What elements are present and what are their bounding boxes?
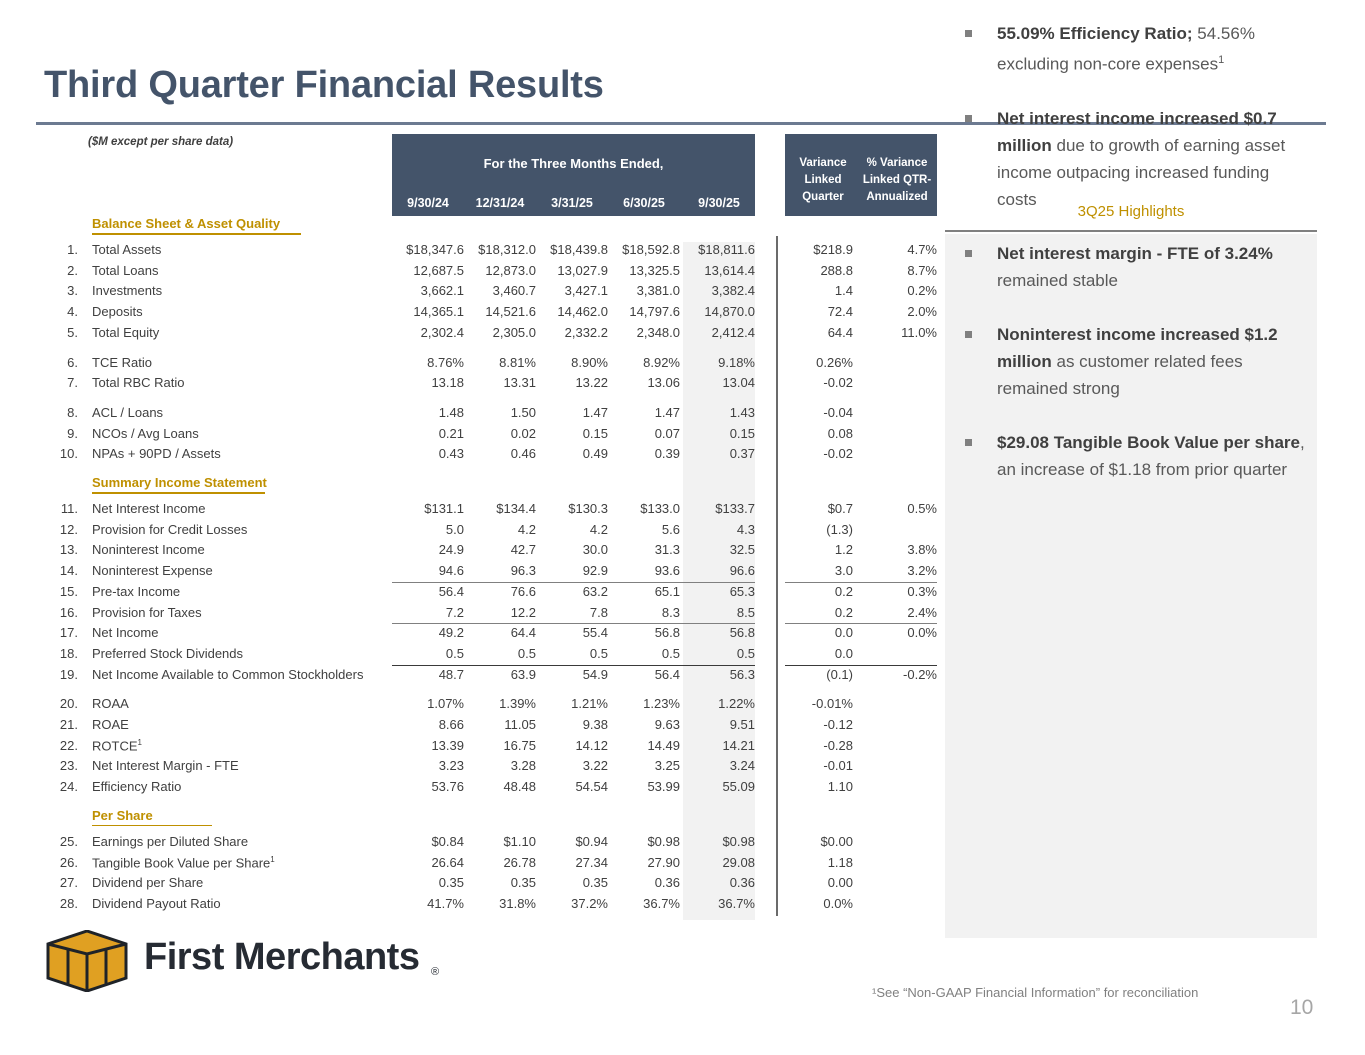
highlight-item: $29.08 Tangible Book Value per share, an… bbox=[955, 429, 1307, 483]
row-number: 22. bbox=[36, 738, 78, 753]
cell-value: 5.6 bbox=[608, 522, 680, 537]
bullet-square-icon bbox=[965, 439, 972, 446]
cell-value: 3.23 bbox=[392, 758, 464, 773]
table-row: 12.Provision for Credit Losses5.04.24.25… bbox=[36, 522, 941, 543]
cell-value: 53.76 bbox=[392, 779, 464, 794]
table-row: 10.NPAs + 90PD / Assets0.430.460.490.390… bbox=[36, 446, 941, 467]
cell-value: 2,302.4 bbox=[392, 325, 464, 340]
cell-value: 0.36 bbox=[608, 875, 680, 890]
cell-value: 9.51 bbox=[683, 717, 755, 732]
cell-variance: -0.02 bbox=[785, 375, 853, 390]
footnote-marker: 1 bbox=[1218, 54, 1224, 66]
cell-value: 1.23% bbox=[608, 696, 680, 711]
cell-variance: 0.00 bbox=[785, 875, 853, 890]
row-label: Pre-tax Income bbox=[92, 584, 180, 599]
table-row: 6.TCE Ratio8.76%8.81%8.90%8.92%9.18%0.26… bbox=[36, 355, 941, 376]
cell-value: 13.18 bbox=[392, 375, 464, 390]
cell-value: 0.07 bbox=[608, 426, 680, 441]
cell-value: 13,027.9 bbox=[536, 263, 608, 278]
section-header: Summary Income Statement bbox=[92, 475, 267, 492]
row-number: 19. bbox=[36, 667, 78, 682]
cell-value: 8.81% bbox=[464, 355, 536, 370]
cell-value: 8.90% bbox=[536, 355, 608, 370]
cell-variance: 3.0 bbox=[785, 563, 853, 578]
cell-value: 0.15 bbox=[536, 426, 608, 441]
cell-value: 14.21 bbox=[683, 738, 755, 753]
table-row: 25.Earnings per Diluted Share$0.84$1.10$… bbox=[36, 834, 941, 855]
row-number: 18. bbox=[36, 646, 78, 661]
variance-linked-quarter-header: Variance Linked Quarter bbox=[789, 155, 857, 206]
company-logo: First Merchants ® bbox=[46, 930, 416, 992]
cell-value: 24.9 bbox=[392, 542, 464, 557]
row-number: 17. bbox=[36, 625, 78, 640]
cell-value: 3.24 bbox=[683, 758, 755, 773]
cell-value: 14,870.0 bbox=[683, 304, 755, 319]
row-label: Noninterest Income bbox=[92, 542, 205, 557]
row-label: Dividend Payout Ratio bbox=[92, 896, 221, 911]
row-number: 23. bbox=[36, 758, 78, 773]
cell-value: 54.54 bbox=[536, 779, 608, 794]
cell-value: 1.47 bbox=[608, 405, 680, 420]
footnote: ¹See “Non-GAAP Financial Information” fo… bbox=[872, 985, 1198, 1000]
row-number: 21. bbox=[36, 717, 78, 732]
cell-value: 3,382.4 bbox=[683, 283, 755, 298]
cell-value: 1.48 bbox=[392, 405, 464, 420]
row-number: 15. bbox=[36, 584, 78, 599]
cell-variance: $0.00 bbox=[785, 834, 853, 849]
cell-value: 92.9 bbox=[536, 563, 608, 578]
cell-value: 65.1 bbox=[608, 584, 680, 599]
cell-value: 31.3 bbox=[608, 542, 680, 557]
row-number: 1. bbox=[36, 242, 78, 257]
cell-value: 13.04 bbox=[683, 375, 755, 390]
registered-trademark-icon: ® bbox=[431, 966, 439, 978]
table-row: 26.Tangible Book Value per Share126.6426… bbox=[36, 855, 941, 876]
cell-variance-pct: 0.3% bbox=[861, 584, 937, 599]
cell-variance-pct: 2.0% bbox=[861, 304, 937, 319]
row-label: Total Equity bbox=[92, 325, 159, 340]
table-row: 20.ROAA1.07%1.39%1.21%1.23%1.22%-0.01% bbox=[36, 696, 941, 717]
row-number: 14. bbox=[36, 563, 78, 578]
table-row: 15.Pre-tax Income56.476.663.265.165.30.2… bbox=[36, 584, 941, 605]
cell-value: 32.5 bbox=[683, 542, 755, 557]
cell-variance-pct: 3.8% bbox=[861, 542, 937, 557]
cell-value: 14,462.0 bbox=[536, 304, 608, 319]
cell-value: 0.21 bbox=[392, 426, 464, 441]
period-header-4: 6/30/25 bbox=[608, 196, 680, 210]
table-row: 17.Net Income49.264.455.456.856.80.00.0% bbox=[36, 625, 941, 646]
row-label: Preferred Stock Dividends bbox=[92, 646, 243, 661]
cell-variance-pct: 3.2% bbox=[861, 563, 937, 578]
cell-value: $18,811.6 bbox=[683, 242, 755, 257]
cell-variance: -0.04 bbox=[785, 405, 853, 420]
cell-value: $130.3 bbox=[536, 501, 608, 516]
row-number: 9. bbox=[36, 426, 78, 441]
cell-value: 2,305.0 bbox=[464, 325, 536, 340]
cell-value: 1.43 bbox=[683, 405, 755, 420]
cell-value: 31.8% bbox=[464, 896, 536, 911]
cell-value: 3,427.1 bbox=[536, 283, 608, 298]
table-row: 28.Dividend Payout Ratio41.7%31.8%37.2%3… bbox=[36, 896, 941, 917]
table-row: 27.Dividend per Share0.350.350.350.360.3… bbox=[36, 875, 941, 896]
cell-value: 56.4 bbox=[608, 667, 680, 682]
cell-value: 1.22% bbox=[683, 696, 755, 711]
row-number: 8. bbox=[36, 405, 78, 420]
table-row: 1.Total Assets$18,347.6$18,312.0$18,439.… bbox=[36, 242, 941, 263]
cell-value: 36.7% bbox=[608, 896, 680, 911]
cell-value: 3.22 bbox=[536, 758, 608, 773]
cell-value: 13.22 bbox=[536, 375, 608, 390]
cell-value: $18,592.8 bbox=[608, 242, 680, 257]
cell-variance: 1.18 bbox=[785, 855, 853, 870]
cell-value: 3.28 bbox=[464, 758, 536, 773]
cell-variance: -0.01 bbox=[785, 758, 853, 773]
table-row: 2.Total Loans12,687.512,873.013,027.913,… bbox=[36, 263, 941, 284]
row-label: Total Assets bbox=[92, 242, 161, 257]
cell-variance: $218.9 bbox=[785, 242, 853, 257]
cell-value: 1.39% bbox=[464, 696, 536, 711]
period-column-headers: 9/30/2412/31/243/31/256/30/259/30/25 bbox=[392, 196, 755, 216]
cell-variance: 0.08 bbox=[785, 426, 853, 441]
cell-value: 16.75 bbox=[464, 738, 536, 753]
cell-value: 56.8 bbox=[608, 625, 680, 640]
row-label: TCE Ratio bbox=[92, 355, 152, 370]
cell-variance-pct: 0.0% bbox=[861, 625, 937, 640]
section-header-underline bbox=[92, 492, 265, 494]
cell-value: $133.0 bbox=[608, 501, 680, 516]
cell-value: $0.94 bbox=[536, 834, 608, 849]
row-number: 7. bbox=[36, 375, 78, 390]
cell-variance-pct: 2.4% bbox=[861, 605, 937, 620]
bullet-square-icon bbox=[965, 30, 972, 37]
highlights-list: 55.09% Efficiency Ratio; 54.56% excludin… bbox=[955, 20, 1307, 510]
cell-variance: 288.8 bbox=[785, 263, 853, 278]
cell-value: 55.09 bbox=[683, 779, 755, 794]
cell-value: 11.05 bbox=[464, 717, 536, 732]
cell-value: 0.5 bbox=[392, 646, 464, 661]
row-label: Tangible Book Value per Share1 bbox=[92, 855, 275, 870]
table-row: 11.Net Interest Income$131.1$134.4$130.3… bbox=[36, 501, 941, 522]
cell-value: 2,348.0 bbox=[608, 325, 680, 340]
cell-value: 2,332.2 bbox=[536, 325, 608, 340]
cell-value: $18,347.6 bbox=[392, 242, 464, 257]
cell-value: 0.5 bbox=[464, 646, 536, 661]
row-number: 28. bbox=[36, 896, 78, 911]
row-label: ACL / Loans bbox=[92, 405, 163, 420]
cell-value: 7.8 bbox=[536, 605, 608, 620]
cell-variance: -0.02 bbox=[785, 446, 853, 461]
cell-value: 13,325.5 bbox=[608, 263, 680, 278]
cell-variance: 64.4 bbox=[785, 325, 853, 340]
highlight-emphasis: Net interest margin - FTE of 3.24% bbox=[997, 244, 1273, 263]
row-number: 2. bbox=[36, 263, 78, 278]
cell-value: 76.6 bbox=[464, 584, 536, 599]
cell-variance: 1.4 bbox=[785, 283, 853, 298]
cell-value: 1.07% bbox=[392, 696, 464, 711]
cell-value: 0.46 bbox=[464, 446, 536, 461]
period-header-1: 9/30/24 bbox=[392, 196, 464, 210]
subtotal-rule bbox=[392, 623, 755, 624]
row-label: NCOs / Avg Loans bbox=[92, 426, 199, 441]
cell-value: 30.0 bbox=[536, 542, 608, 557]
cell-variance: 0.26% bbox=[785, 355, 853, 370]
cell-value: 27.90 bbox=[608, 855, 680, 870]
cell-value: 0.02 bbox=[464, 426, 536, 441]
cell-value: 14,521.6 bbox=[464, 304, 536, 319]
row-number: 11. bbox=[36, 501, 78, 516]
cell-variance: 0.2 bbox=[785, 584, 853, 599]
table-row: 7.Total RBC Ratio13.1813.3113.2213.0613.… bbox=[36, 375, 941, 396]
row-label: Earnings per Diluted Share bbox=[92, 834, 248, 849]
cell-variance: (1.3) bbox=[785, 522, 853, 537]
cell-value: 0.15 bbox=[683, 426, 755, 441]
period-group-header-label: For the Three Months Ended, bbox=[392, 156, 755, 171]
cell-value: 27.34 bbox=[536, 855, 608, 870]
page-number: 10 bbox=[1290, 996, 1313, 1020]
row-label: Provision for Credit Losses bbox=[92, 522, 247, 537]
row-label: Net Income Available to Common Stockhold… bbox=[92, 667, 363, 682]
table-row: 22.ROTCE113.3916.7514.1214.4914.21-0.28 bbox=[36, 738, 941, 759]
cell-value: $134.4 bbox=[464, 501, 536, 516]
variance-group-header: Variance Linked Quarter % Variance Linke… bbox=[785, 134, 937, 216]
cell-value: 49.2 bbox=[392, 625, 464, 640]
period-header-3: 3/31/25 bbox=[536, 196, 608, 210]
period-header-5: 9/30/25 bbox=[683, 196, 755, 210]
highlight-text: remained stable bbox=[997, 271, 1118, 290]
row-label: Net Income bbox=[92, 625, 158, 640]
cell-value: 65.3 bbox=[683, 584, 755, 599]
cell-variance: 72.4 bbox=[785, 304, 853, 319]
period-header-2: 12/31/24 bbox=[464, 196, 536, 210]
highlight-emphasis: $29.08 Tangible Book Value per share bbox=[997, 433, 1300, 452]
cell-variance: -0.12 bbox=[785, 717, 853, 732]
cell-value: 29.08 bbox=[683, 855, 755, 870]
cell-value: 9.63 bbox=[608, 717, 680, 732]
cell-value: 0.49 bbox=[536, 446, 608, 461]
cell-variance: $0.7 bbox=[785, 501, 853, 516]
cell-value: 8.3 bbox=[608, 605, 680, 620]
section-header: Balance Sheet & Asset Quality bbox=[92, 216, 280, 233]
row-label: Deposits bbox=[92, 304, 143, 319]
row-number: 3. bbox=[36, 283, 78, 298]
page-title: Third Quarter Financial Results bbox=[44, 64, 604, 107]
cell-value: 8.92% bbox=[608, 355, 680, 370]
cell-value: 7.2 bbox=[392, 605, 464, 620]
cell-value: 55.4 bbox=[536, 625, 608, 640]
bullet-square-icon bbox=[965, 115, 972, 122]
cell-value: 1.50 bbox=[464, 405, 536, 420]
cell-value: 41.7% bbox=[392, 896, 464, 911]
table-row: 19.Net Income Available to Common Stockh… bbox=[36, 667, 941, 688]
row-number: 13. bbox=[36, 542, 78, 557]
variance-annualized-header: % Variance Linked QTR- Annualized bbox=[859, 155, 935, 206]
cell-variance-pct: 0.5% bbox=[861, 501, 937, 516]
cell-value: $18,312.0 bbox=[464, 242, 536, 257]
table-row: 3.Investments3,662.13,460.73,427.13,381.… bbox=[36, 283, 941, 304]
table-row: 23.Net Interest Margin - FTE3.233.283.22… bbox=[36, 758, 941, 779]
cell-value: 4.2 bbox=[464, 522, 536, 537]
cell-value: 0.35 bbox=[392, 875, 464, 890]
row-number: 26. bbox=[36, 855, 78, 870]
cell-value: 56.8 bbox=[683, 625, 755, 640]
units-note: ($M except per share data) bbox=[88, 136, 233, 148]
cell-value: 13.06 bbox=[608, 375, 680, 390]
table-row: 13.Noninterest Income24.942.730.031.332.… bbox=[36, 542, 941, 563]
cell-value: 5.0 bbox=[392, 522, 464, 537]
cell-value: 0.5 bbox=[608, 646, 680, 661]
cell-value: 14,365.1 bbox=[392, 304, 464, 319]
highlight-item: 55.09% Efficiency Ratio; 54.56% excludin… bbox=[955, 20, 1307, 78]
cell-value: 3,381.0 bbox=[608, 283, 680, 298]
cell-value: 12.2 bbox=[464, 605, 536, 620]
cell-value: 9.38 bbox=[536, 717, 608, 732]
row-label: Investments bbox=[92, 283, 162, 298]
cell-value: 56.3 bbox=[683, 667, 755, 682]
table-row: 4.Deposits14,365.114,521.614,462.014,797… bbox=[36, 304, 941, 325]
cell-value: 0.36 bbox=[683, 875, 755, 890]
cell-variance: 0.2 bbox=[785, 605, 853, 620]
cell-value: 36.7% bbox=[683, 896, 755, 911]
cell-value: 54.9 bbox=[536, 667, 608, 682]
cell-value: 1.47 bbox=[536, 405, 608, 420]
row-label: Noninterest Expense bbox=[92, 563, 213, 578]
cell-value: 93.6 bbox=[608, 563, 680, 578]
cell-value: 37.2% bbox=[536, 896, 608, 911]
cell-value: 4.2 bbox=[536, 522, 608, 537]
cell-variance-pct: 0.2% bbox=[861, 283, 937, 298]
cell-value: 56.4 bbox=[392, 584, 464, 599]
row-label: Total Loans bbox=[92, 263, 159, 278]
cell-value: 53.99 bbox=[608, 779, 680, 794]
cell-value: 8.76% bbox=[392, 355, 464, 370]
footnote-marker: 1 bbox=[270, 855, 274, 864]
row-number: 5. bbox=[36, 325, 78, 340]
cell-value: 0.37 bbox=[683, 446, 755, 461]
cell-value: 3,662.1 bbox=[392, 283, 464, 298]
cell-value: 4.3 bbox=[683, 522, 755, 537]
cell-variance: -0.28 bbox=[785, 738, 853, 753]
row-number: 10. bbox=[36, 446, 78, 461]
bullet-square-icon bbox=[965, 331, 972, 338]
cell-value: $0.98 bbox=[683, 834, 755, 849]
row-number: 4. bbox=[36, 304, 78, 319]
subtotal-rule bbox=[392, 582, 755, 583]
cell-value: 2,412.4 bbox=[683, 325, 755, 340]
cell-value: 48.48 bbox=[464, 779, 536, 794]
cell-value: 64.4 bbox=[464, 625, 536, 640]
highlight-item: Net interest margin - FTE of 3.24% remai… bbox=[955, 240, 1307, 294]
table-row: 5.Total Equity2,302.42,305.02,332.22,348… bbox=[36, 325, 941, 346]
row-label: Dividend per Share bbox=[92, 875, 203, 890]
row-label: Net Interest Margin - FTE bbox=[92, 758, 239, 773]
cell-value: 14,797.6 bbox=[608, 304, 680, 319]
row-number: 24. bbox=[36, 779, 78, 794]
table-row: 9.NCOs / Avg Loans0.210.020.150.070.150.… bbox=[36, 426, 941, 447]
table-row: 21.ROAE8.6611.059.389.639.51-0.12 bbox=[36, 717, 941, 738]
cell-value: 0.35 bbox=[464, 875, 536, 890]
subtotal-rule bbox=[785, 623, 937, 624]
cell-value: 63.9 bbox=[464, 667, 536, 682]
row-label: NPAs + 90PD / Assets bbox=[92, 446, 221, 461]
row-label: Efficiency Ratio bbox=[92, 779, 181, 794]
cell-variance-pct: 11.0% bbox=[861, 325, 937, 340]
cell-value: 48.7 bbox=[392, 667, 464, 682]
cell-value: 0.5 bbox=[536, 646, 608, 661]
bullet-square-icon bbox=[965, 250, 972, 257]
section-header-underline bbox=[92, 233, 301, 235]
cell-value: $0.98 bbox=[608, 834, 680, 849]
cell-value: 9.18% bbox=[683, 355, 755, 370]
cell-value: $133.7 bbox=[683, 501, 755, 516]
row-number: 12. bbox=[36, 522, 78, 537]
highlight-item: Noninterest income increased $1.2 millio… bbox=[955, 321, 1307, 402]
cell-variance-pct: 4.7% bbox=[861, 242, 937, 257]
cell-value: 14.12 bbox=[536, 738, 608, 753]
row-label: Provision for Taxes bbox=[92, 605, 202, 620]
cell-value: 96.3 bbox=[464, 563, 536, 578]
footnote-marker: 1 bbox=[138, 738, 142, 747]
row-number: 20. bbox=[36, 696, 78, 711]
cell-value: 13,614.4 bbox=[683, 263, 755, 278]
cell-variance: 1.2 bbox=[785, 542, 853, 557]
cell-value: 0.39 bbox=[608, 446, 680, 461]
cell-value: 13.31 bbox=[464, 375, 536, 390]
cell-value: 8.66 bbox=[392, 717, 464, 732]
row-label: Total RBC Ratio bbox=[92, 375, 184, 390]
row-number: 27. bbox=[36, 875, 78, 890]
cell-value: 12,687.5 bbox=[392, 263, 464, 278]
cell-value: $0.84 bbox=[392, 834, 464, 849]
cell-value: 94.6 bbox=[392, 563, 464, 578]
cell-value: 0.43 bbox=[392, 446, 464, 461]
row-label: ROAA bbox=[92, 696, 129, 711]
financial-table: ($M except per share data) For the Three… bbox=[36, 132, 941, 922]
row-number: 16. bbox=[36, 605, 78, 620]
subtotal-rule bbox=[785, 582, 937, 583]
cell-value: 0.5 bbox=[683, 646, 755, 661]
cell-variance: 0.0 bbox=[785, 646, 853, 661]
cell-value: 26.64 bbox=[392, 855, 464, 870]
row-number: 6. bbox=[36, 355, 78, 370]
cell-value: $131.1 bbox=[392, 501, 464, 516]
cell-value: $18,439.8 bbox=[536, 242, 608, 257]
cell-variance: (0.1) bbox=[785, 667, 853, 682]
cell-value: 13.39 bbox=[392, 738, 464, 753]
cell-variance: 0.0 bbox=[785, 625, 853, 640]
row-label: ROAE bbox=[92, 717, 129, 732]
first-merchants-hexagon-icon bbox=[46, 930, 128, 997]
cell-value: $1.10 bbox=[464, 834, 536, 849]
table-row: 24.Efficiency Ratio53.7648.4854.5453.995… bbox=[36, 779, 941, 800]
cell-value: 1.21% bbox=[536, 696, 608, 711]
table-row: 8.ACL / Loans1.481.501.471.471.43-0.04 bbox=[36, 405, 941, 426]
cell-variance: 0.0% bbox=[785, 896, 853, 911]
highlight-emphasis: 55.09% Efficiency Ratio; bbox=[997, 24, 1193, 43]
cell-value: 14.49 bbox=[608, 738, 680, 753]
cell-value: 3,460.7 bbox=[464, 283, 536, 298]
row-label: ROTCE1 bbox=[92, 738, 142, 753]
cell-value: 3.25 bbox=[608, 758, 680, 773]
cell-value: 8.5 bbox=[683, 605, 755, 620]
cell-variance: -0.01% bbox=[785, 696, 853, 711]
cell-value: 96.6 bbox=[683, 563, 755, 578]
cell-variance-pct: -0.2% bbox=[861, 667, 937, 682]
section-header-underline bbox=[92, 825, 212, 827]
section-header: Per Share bbox=[92, 808, 153, 825]
cell-value: 12,873.0 bbox=[464, 263, 536, 278]
cell-value: 42.7 bbox=[464, 542, 536, 557]
row-number: 25. bbox=[36, 834, 78, 849]
